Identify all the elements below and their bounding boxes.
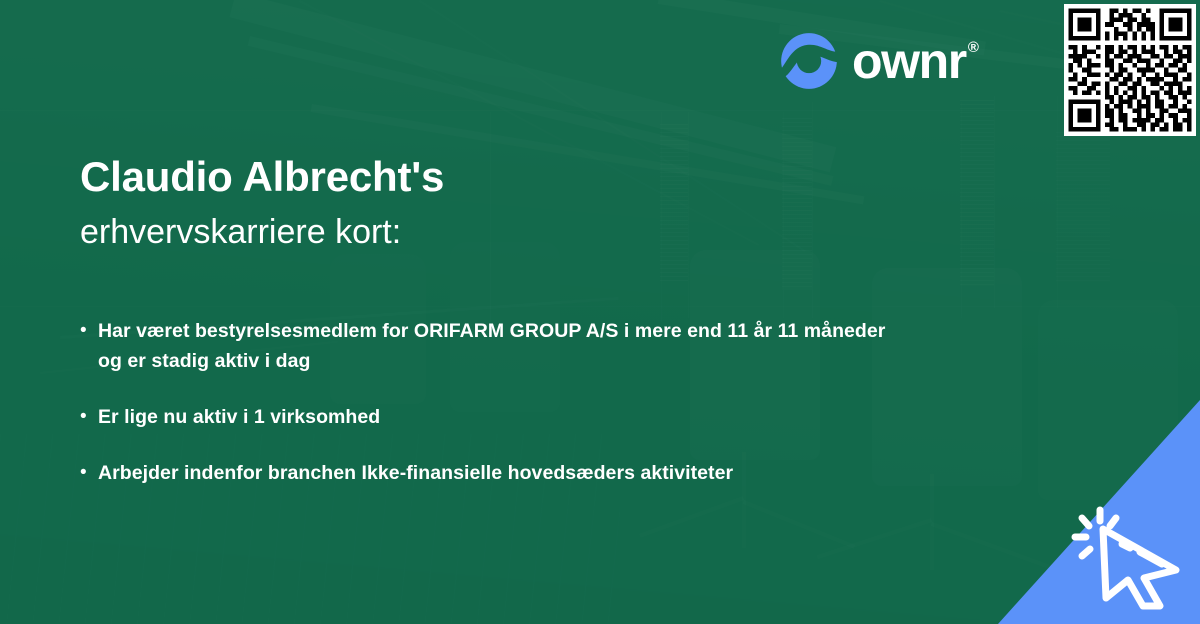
list-item-text: Arbejder indenfor branchen Ikke-finansie… [98,458,733,488]
person-name: Claudio Albrecht's [80,152,444,202]
bullet-dot-icon: • [80,458,98,488]
list-item-text: Er lige nu aktiv i 1 virksomhed [98,402,380,432]
list-item: • Har været bestyrelsesmedlem for ORIFAR… [80,316,910,376]
list-item-text: Har været bestyrelsesmedlem for ORIFARM … [98,316,910,376]
list-item: • Er lige nu aktiv i 1 virksomhed [80,402,910,432]
career-facts-list: • Har været bestyrelsesmedlem for ORIFAR… [80,316,910,514]
corner-accent [950,330,1200,624]
bullet-dot-icon: • [80,316,98,346]
career-summary-card: Claudio Albrecht's erhvervskarriere kort… [0,0,1200,624]
headline-subtitle: erhvervskarriere kort: [80,210,444,254]
qr-code-icon [1064,4,1196,136]
list-item: • Arbejder indenfor branchen Ikke-finans… [80,458,910,488]
ownr-wordmark: ownr [852,36,966,86]
ownr-circle-swoosh-icon [780,32,838,90]
ownr-logo[interactable]: ownr ® [780,32,979,90]
registered-trademark-icon: ® [968,40,979,55]
card-headline: Claudio Albrecht's erhvervskarriere kort… [80,152,444,254]
bullet-dot-icon: • [80,402,98,432]
mouse-cursor-click-icon [1070,504,1188,612]
qr-code[interactable] [1064,4,1196,136]
